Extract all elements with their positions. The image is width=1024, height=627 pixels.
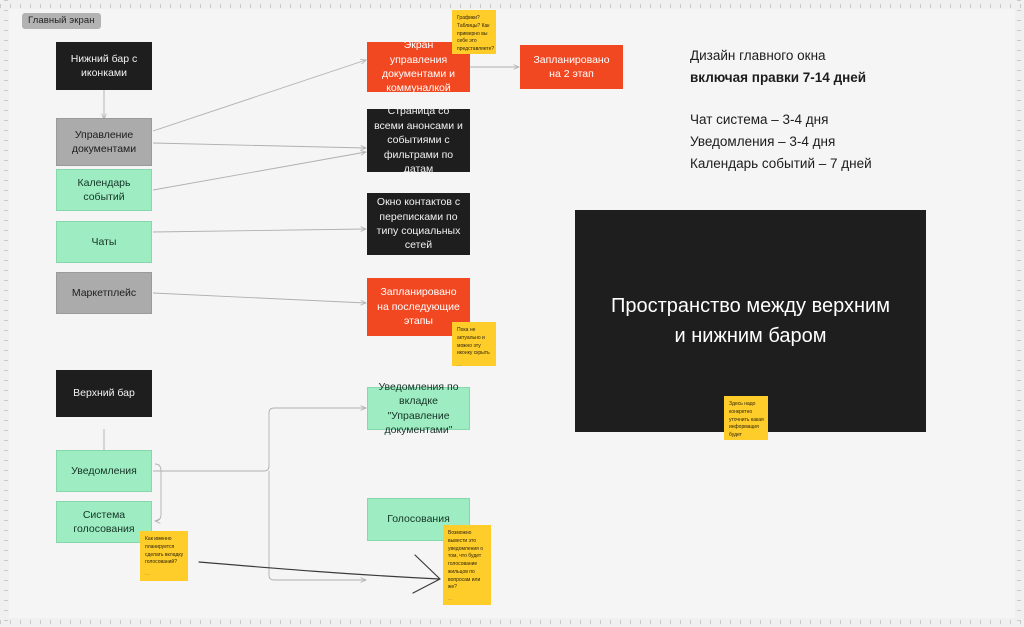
node-top-bar[interactable]: Верхний бар — [56, 370, 152, 417]
sticky-voting-tab-dots: ... — [145, 571, 184, 579]
ruler-top — [0, 0, 1024, 9]
panel-between-bars-label: Пространство между верхним и нижним баро… — [609, 291, 892, 351]
note-gap — [690, 89, 872, 109]
note-line-4: Уведомления – 3-4 дня — [690, 131, 872, 153]
node-events-calendar-label: Календарь событий — [64, 176, 144, 205]
sticky-voting-notice[interactable]: Возможно вывести это уведомления о том, … — [443, 525, 491, 605]
node-notifications[interactable]: Уведомления — [56, 450, 152, 492]
ruler-left — [0, 0, 9, 627]
node-announcements-page-label: Страница со всеми анонсами и событиями с… — [374, 104, 463, 176]
node-marketplace-label: Маркетплейс — [72, 286, 136, 300]
node-notifications-docs-label: Уведомления по вкладке "Управление докум… — [375, 380, 462, 438]
node-announcements-page[interactable]: Страница со всеми анонсами и событиями с… — [367, 109, 470, 172]
sticky-charts-text: Графики? Таблицы? Как примерно вы себе э… — [457, 15, 494, 52]
node-top-bar-label: Верхний бар — [73, 386, 135, 400]
sticky-voting-tab[interactable]: Как именно планируется сделать вкладку г… — [140, 531, 188, 581]
sticky-panel-info-text: Здесь надо конкретно уточнить какая инфо… — [729, 401, 764, 440]
estimates-notes: Дизайн главного окна включая правки 7-14… — [690, 45, 872, 175]
node-chats-label: Чаты — [92, 235, 117, 249]
note-line-3: Чат система – 3-4 дня — [690, 109, 872, 131]
screenshot-canvas: Главный экран — [0, 0, 1024, 627]
note-line-5: Календарь событий – 7 дней — [690, 153, 872, 175]
node-marketplace[interactable]: Маркетплейс — [56, 272, 152, 314]
node-doc-screen-label: Экран управления документами и коммуналк… — [374, 38, 463, 96]
node-planned-later-label: Запланировано на последующие этапы — [374, 285, 463, 328]
node-bottom-bar-label: Нижний бар с иконками — [63, 52, 145, 81]
handdrawn-arrow — [199, 555, 440, 593]
sticky-hide-icon-text: Пока не актуально и можно эту иконку скр… — [457, 327, 490, 356]
ruler-right — [1015, 0, 1024, 627]
sticky-voting-tab-text: Как именно планируется сделать вкладку г… — [145, 536, 183, 565]
note-line-1: Дизайн главного окна — [690, 45, 872, 67]
node-doc-management[interactable]: Управление документами — [56, 118, 152, 166]
sticky-voting-notice-dots: ... — [448, 596, 487, 604]
design-frame[interactable]: Главный экран — [9, 9, 1015, 618]
sticky-voting-notice-text: Возможно вывести это уведомления о том, … — [448, 530, 483, 590]
node-bottom-bar[interactable]: Нижний бар с иконками — [56, 42, 152, 90]
sticky-hide-icon[interactable]: Пока не актуально и можно эту иконку скр… — [452, 322, 496, 366]
ruler-bottom — [0, 618, 1024, 627]
node-chats[interactable]: Чаты — [56, 221, 152, 263]
node-contacts-window[interactable]: Окно контактов с переписками по типу соц… — [367, 193, 470, 255]
node-voting-system-label: Система голосования — [64, 508, 144, 537]
node-voting-system[interactable]: Система голосования — [56, 501, 152, 543]
sticky-hide-icon-dots: ... — [457, 362, 492, 366]
node-notifications-docs[interactable]: Уведомления по вкладке "Управление докум… — [367, 387, 470, 430]
node-planned-stage2-label: Запланировано на 2 этап — [527, 53, 616, 82]
node-notifications-label: Уведомления — [71, 464, 137, 478]
node-planned-stage2[interactable]: Запланировано на 2 этап — [520, 45, 623, 89]
node-events-calendar[interactable]: Календарь событий — [56, 169, 152, 211]
node-contacts-window-label: Окно контактов с переписками по типу соц… — [374, 195, 463, 253]
node-doc-management-label: Управление документами — [64, 128, 144, 157]
sticky-panel-info[interactable]: Здесь надо конкретно уточнить какая инфо… — [724, 396, 768, 440]
node-votings-label: Голосования — [387, 512, 450, 526]
note-line-2: включая правки 7-14 дней — [690, 67, 872, 89]
sticky-charts[interactable]: Графики? Таблицы? Как примерно вы себе э… — [452, 10, 496, 54]
